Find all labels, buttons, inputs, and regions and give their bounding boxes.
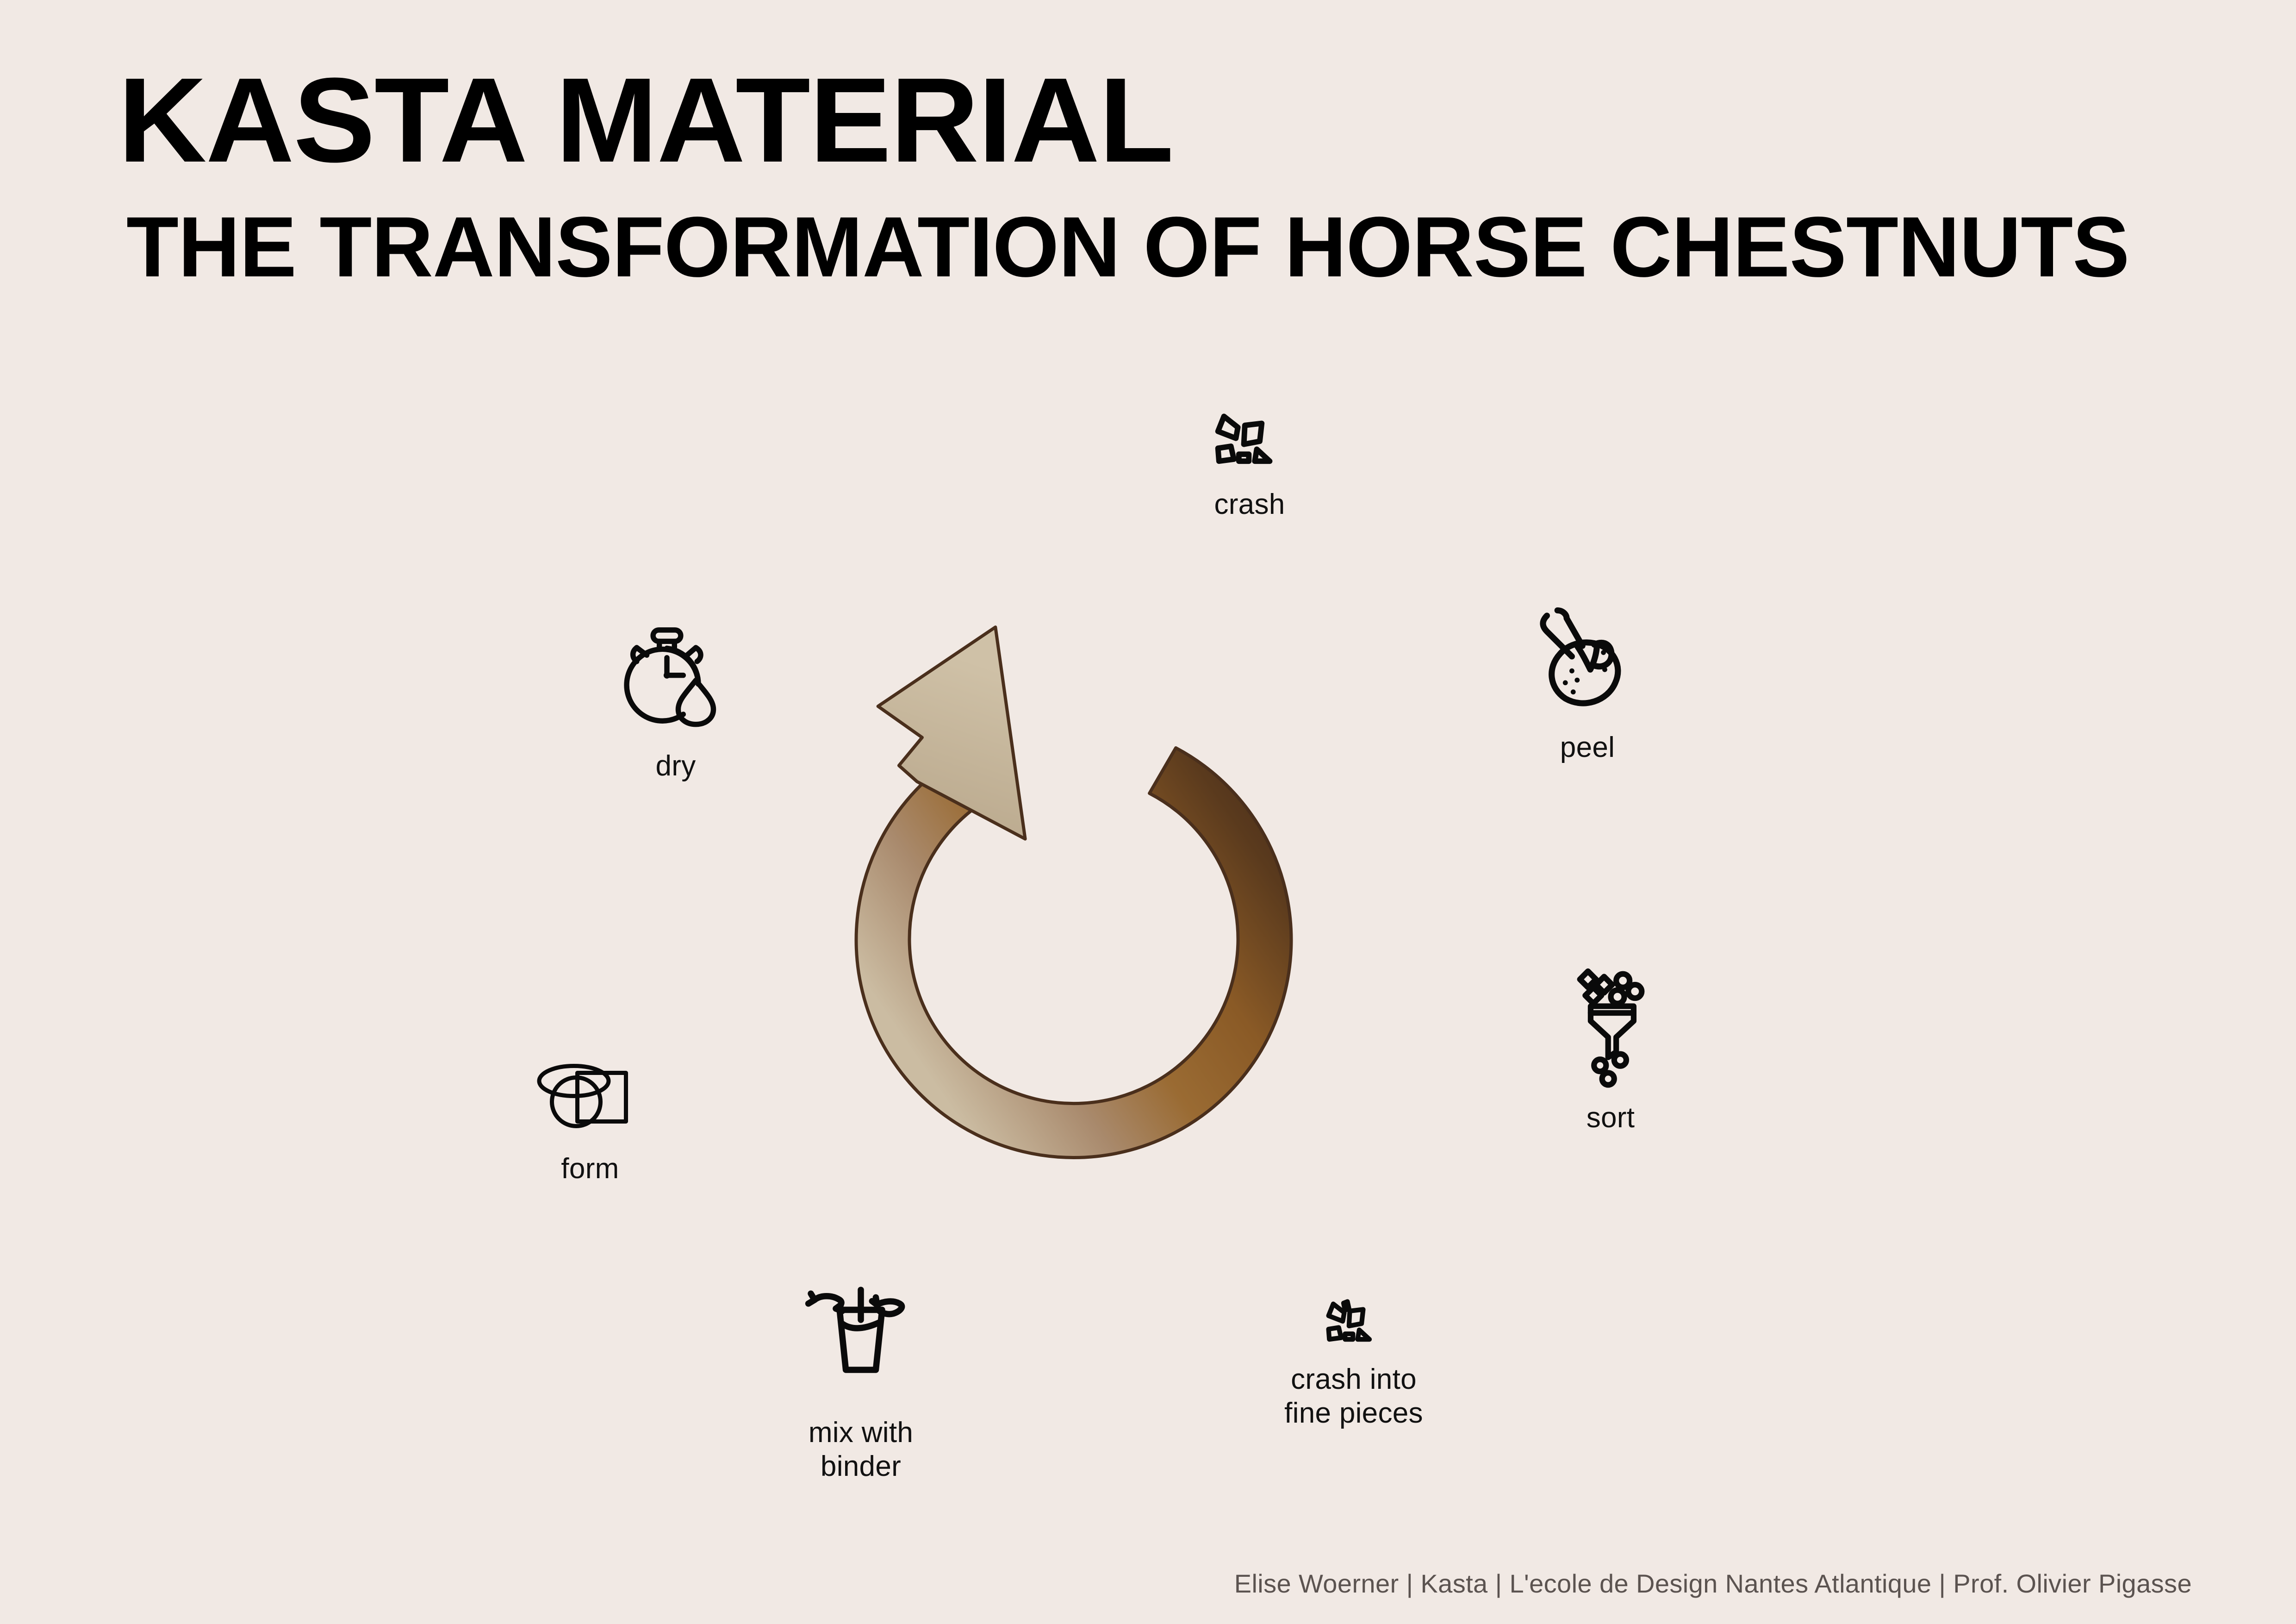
cycle-ring-arc <box>856 748 1291 1158</box>
poster-header: KASTA MATERIAL THE TRANSFORMATION OF HOR… <box>118 60 2201 290</box>
overlapping-shapes-icon <box>532 1056 648 1143</box>
poster-canvas: KASTA MATERIAL THE TRANSFORMATION OF HOR… <box>0 0 2296 1624</box>
stirred-glass-icon <box>798 1282 923 1407</box>
cycle-step-dry[interactable]: dry <box>579 625 773 783</box>
cycle-step-sort[interactable]: sort <box>1523 963 1699 1135</box>
cycle-step-form[interactable]: form <box>498 1056 683 1186</box>
page-subtitle: THE TRANSFORMATION OF HORSE CHESTNUTS <box>118 205 2201 290</box>
cycle-step-crash[interactable]: crash <box>1152 407 1347 521</box>
stopwatch-droplet-icon <box>620 625 731 741</box>
cycle-step-peel[interactable]: peel <box>1504 606 1671 764</box>
cycle-step-label: sort <box>1587 1101 1635 1135</box>
process-cycle-diagram <box>685 523 1592 1356</box>
cycle-step-mix-with-binder[interactable]: mix with binder <box>740 1282 981 1483</box>
cycle-step-label: mix with binder <box>809 1416 913 1483</box>
cycle-step-label: peel <box>1560 731 1615 764</box>
chestnut-peeler-icon <box>1531 606 1644 722</box>
rock-chunks-icon <box>1200 407 1300 479</box>
cycle-step-label: form <box>561 1152 619 1186</box>
cycle-step-label: dry <box>655 749 696 783</box>
cycle-arrow-graphic <box>685 523 1592 1356</box>
cycle-step-label: crash <box>1214 487 1285 521</box>
sieve-funnel-icon <box>1561 963 1661 1093</box>
fine-rock-chunks-icon <box>1314 1296 1393 1354</box>
cycle-step-crash-into-fine-pieces[interactable]: crash into fine pieces <box>1233 1296 1474 1430</box>
cycle-step-label: crash into fine pieces <box>1284 1362 1423 1430</box>
footer-credit: Elise Woerner | Kasta | L'ecole de Desig… <box>1234 1568 2192 1599</box>
page-title: KASTA MATERIAL <box>118 60 2242 181</box>
